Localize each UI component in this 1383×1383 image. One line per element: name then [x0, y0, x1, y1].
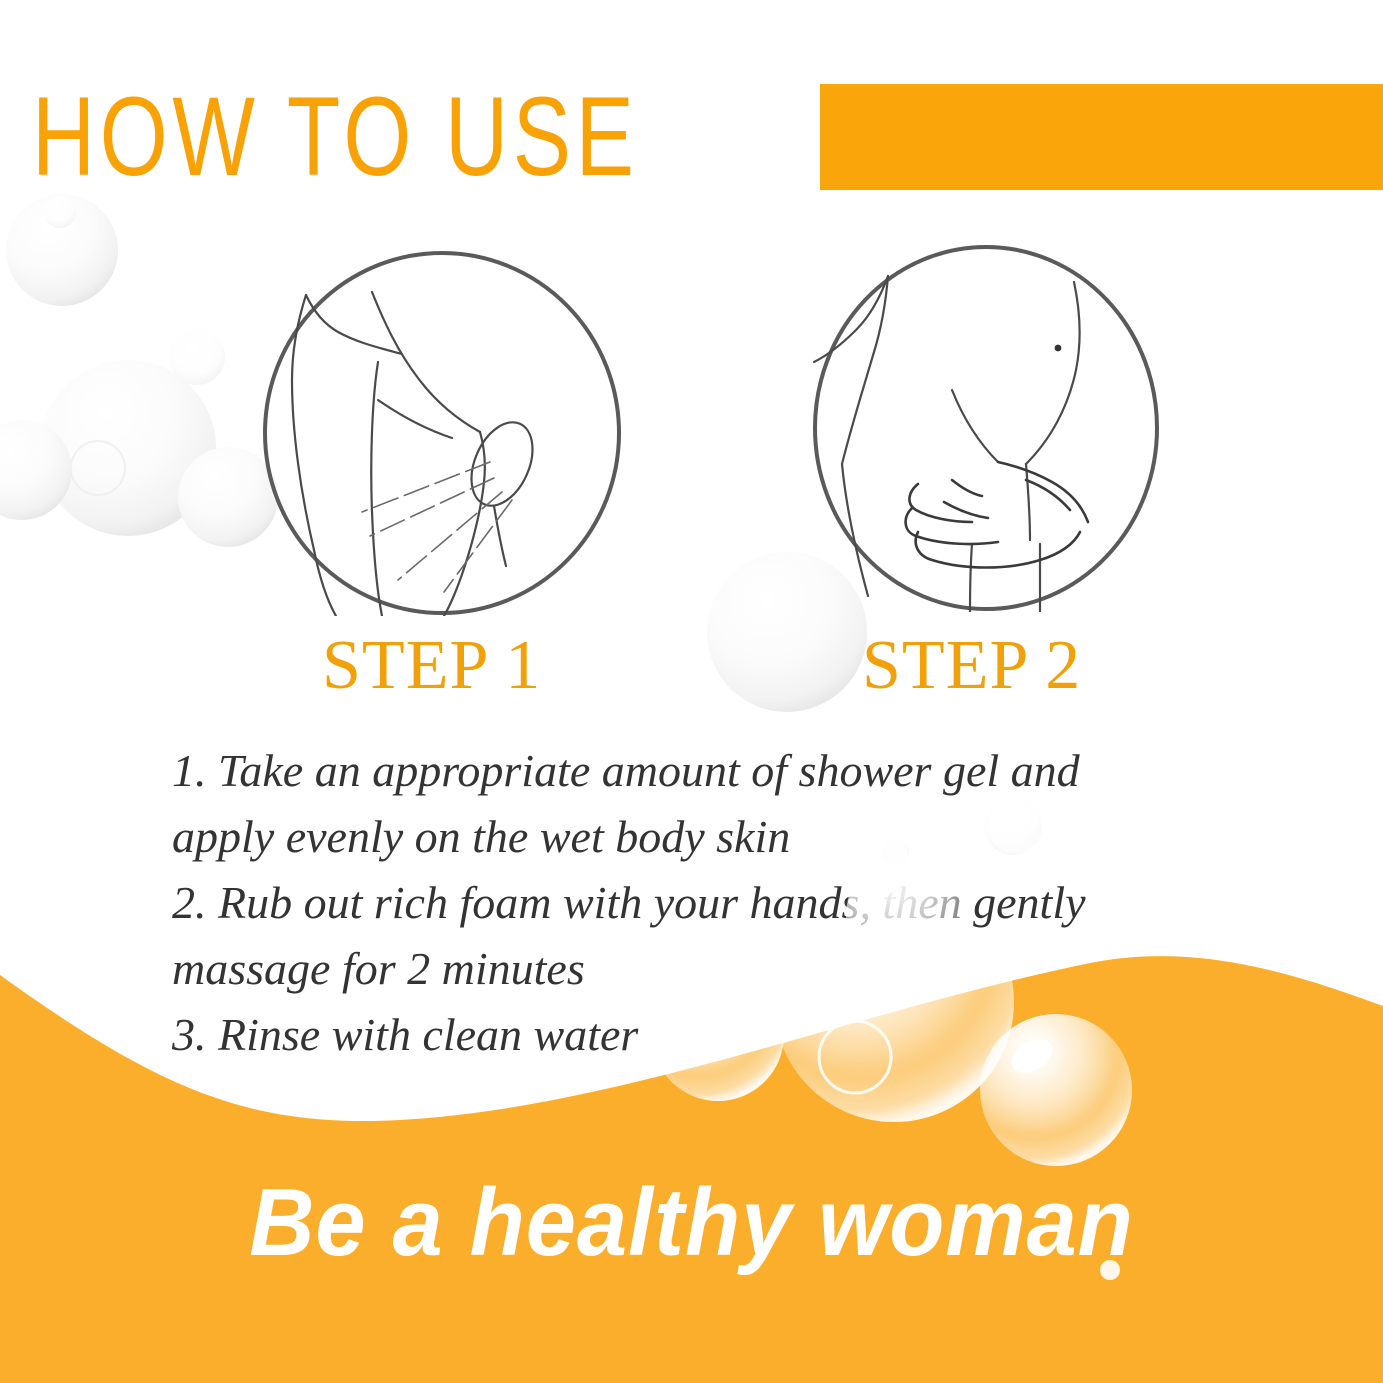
instruction-line-1: 1. Take an appropriate amount of shower …	[172, 738, 1182, 870]
step-1-illustration	[262, 250, 622, 616]
how-to-use-infographic: HOW TO USE	[0, 0, 1383, 1383]
footer-slogan: Be a healthy woman	[41, 1168, 1341, 1278]
instructions-list: 1. Take an appropriate amount of shower …	[172, 738, 1182, 1068]
step-1-label: STEP 1	[322, 626, 541, 706]
step-2-illustration	[812, 244, 1160, 612]
steps-section: STEP 1 STEP 2	[0, 0, 1383, 720]
instruction-line-2: 2. Rub out rich foam with your hands, th…	[172, 870, 1182, 1002]
step-2-label: STEP 2	[862, 626, 1081, 706]
instruction-line-3: 3. Rinse with clean water	[172, 1002, 1182, 1068]
